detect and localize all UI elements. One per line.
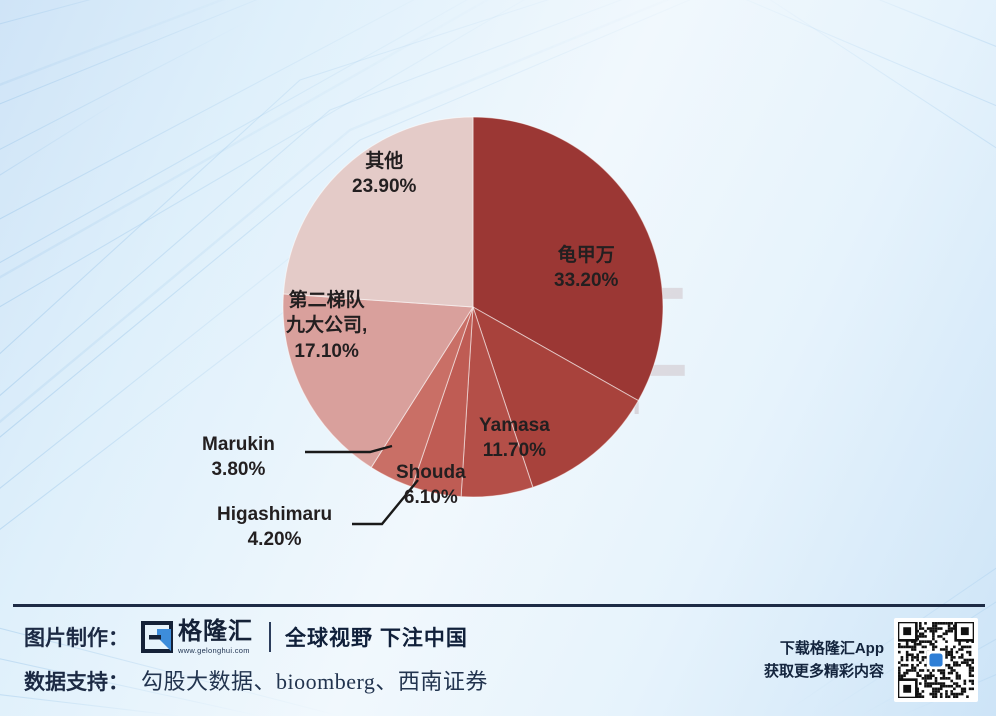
logo-wordmark: 格隆汇 www.gelonghui.com (178, 620, 253, 655)
slogan: 全球视野 下注中国 (285, 622, 468, 652)
pie-slice (283, 117, 473, 307)
gelonghui-logo-icon (141, 621, 173, 653)
qr-code-icon (898, 622, 974, 698)
slice-label-marukin: Marukin 3.80% (202, 432, 275, 482)
logo-url: www.gelonghui.com (178, 646, 253, 655)
qr-caption-line1: 下载格隆汇App (764, 637, 884, 660)
slice-label-kikkoman: 龟甲万 33.20% (554, 243, 618, 293)
slice-label-marukin-name: Marukin (202, 432, 275, 457)
slice-label-kikkoman-value: 33.20% (554, 268, 618, 293)
slice-label-higashimaru-value: 4.20% (217, 527, 332, 552)
footer-divider (13, 604, 985, 607)
slice-label-shouda: Shouda 6.10% (396, 460, 466, 510)
logo-word: 格隆汇 (178, 620, 253, 644)
qr-code[interactable] (894, 618, 978, 702)
slice-label-other-name: 其他 (352, 149, 416, 174)
chart-canvas: 格隆汇 www.gelonghui.com 龟甲万 33.20% 其他 23.9… (0, 0, 996, 716)
slice-label-second-tier: 第二梯队 九大公司, 17.10% (286, 288, 367, 364)
slice-label-higashimaru-name: Higashimaru (217, 502, 332, 527)
slice-label-marukin-value: 3.80% (202, 457, 275, 482)
qr-block[interactable]: 下载格隆汇App 获取更多精彩内容 (764, 618, 978, 702)
gelonghui-logo: 格隆汇 www.gelonghui.com (141, 620, 253, 655)
qr-caption: 下载格隆汇App 获取更多精彩内容 (764, 637, 884, 684)
pie-svg (0, 0, 996, 604)
slice-label-other: 其他 23.90% (352, 149, 416, 199)
source-label: 数据支持： (24, 666, 129, 696)
slice-label-second-tier-value: 17.10% (286, 339, 367, 364)
source-value: 勾股大数据、bioomberg、西南证券 (141, 664, 488, 696)
slice-label-shouda-value: 6.10% (396, 485, 466, 510)
slice-label-second-tier-line2: 九大公司, (286, 313, 367, 338)
slice-label-other-value: 23.90% (352, 174, 416, 199)
slice-label-shouda-name: Shouda (396, 460, 466, 485)
pie-chart: 格隆汇 www.gelonghui.com 龟甲万 33.20% 其他 23.9… (0, 0, 996, 604)
slice-label-yamasa-value: 11.70% (479, 438, 550, 463)
slice-label-second-tier-line1: 第二梯队 (286, 288, 367, 313)
footer: 图片制作： 格隆汇 www.gelonghui.com 全球视野 下注中国 数据… (0, 604, 996, 716)
source-row: 数据支持： 勾股大数据、bioomberg、西南证券 (24, 664, 488, 696)
qr-caption-line2: 获取更多精彩内容 (764, 660, 884, 683)
slice-label-yamasa: Yamasa 11.70% (479, 413, 550, 463)
slice-label-higashimaru: Higashimaru 4.20% (217, 502, 332, 552)
slice-label-yamasa-name: Yamasa (479, 413, 550, 438)
slice-label-kikkoman-name: 龟甲万 (554, 243, 618, 268)
credit-label: 图片制作： (24, 622, 129, 652)
credit-row: 图片制作： 格隆汇 www.gelonghui.com 全球视野 下注中国 (24, 620, 468, 654)
footer-separator (269, 622, 271, 652)
